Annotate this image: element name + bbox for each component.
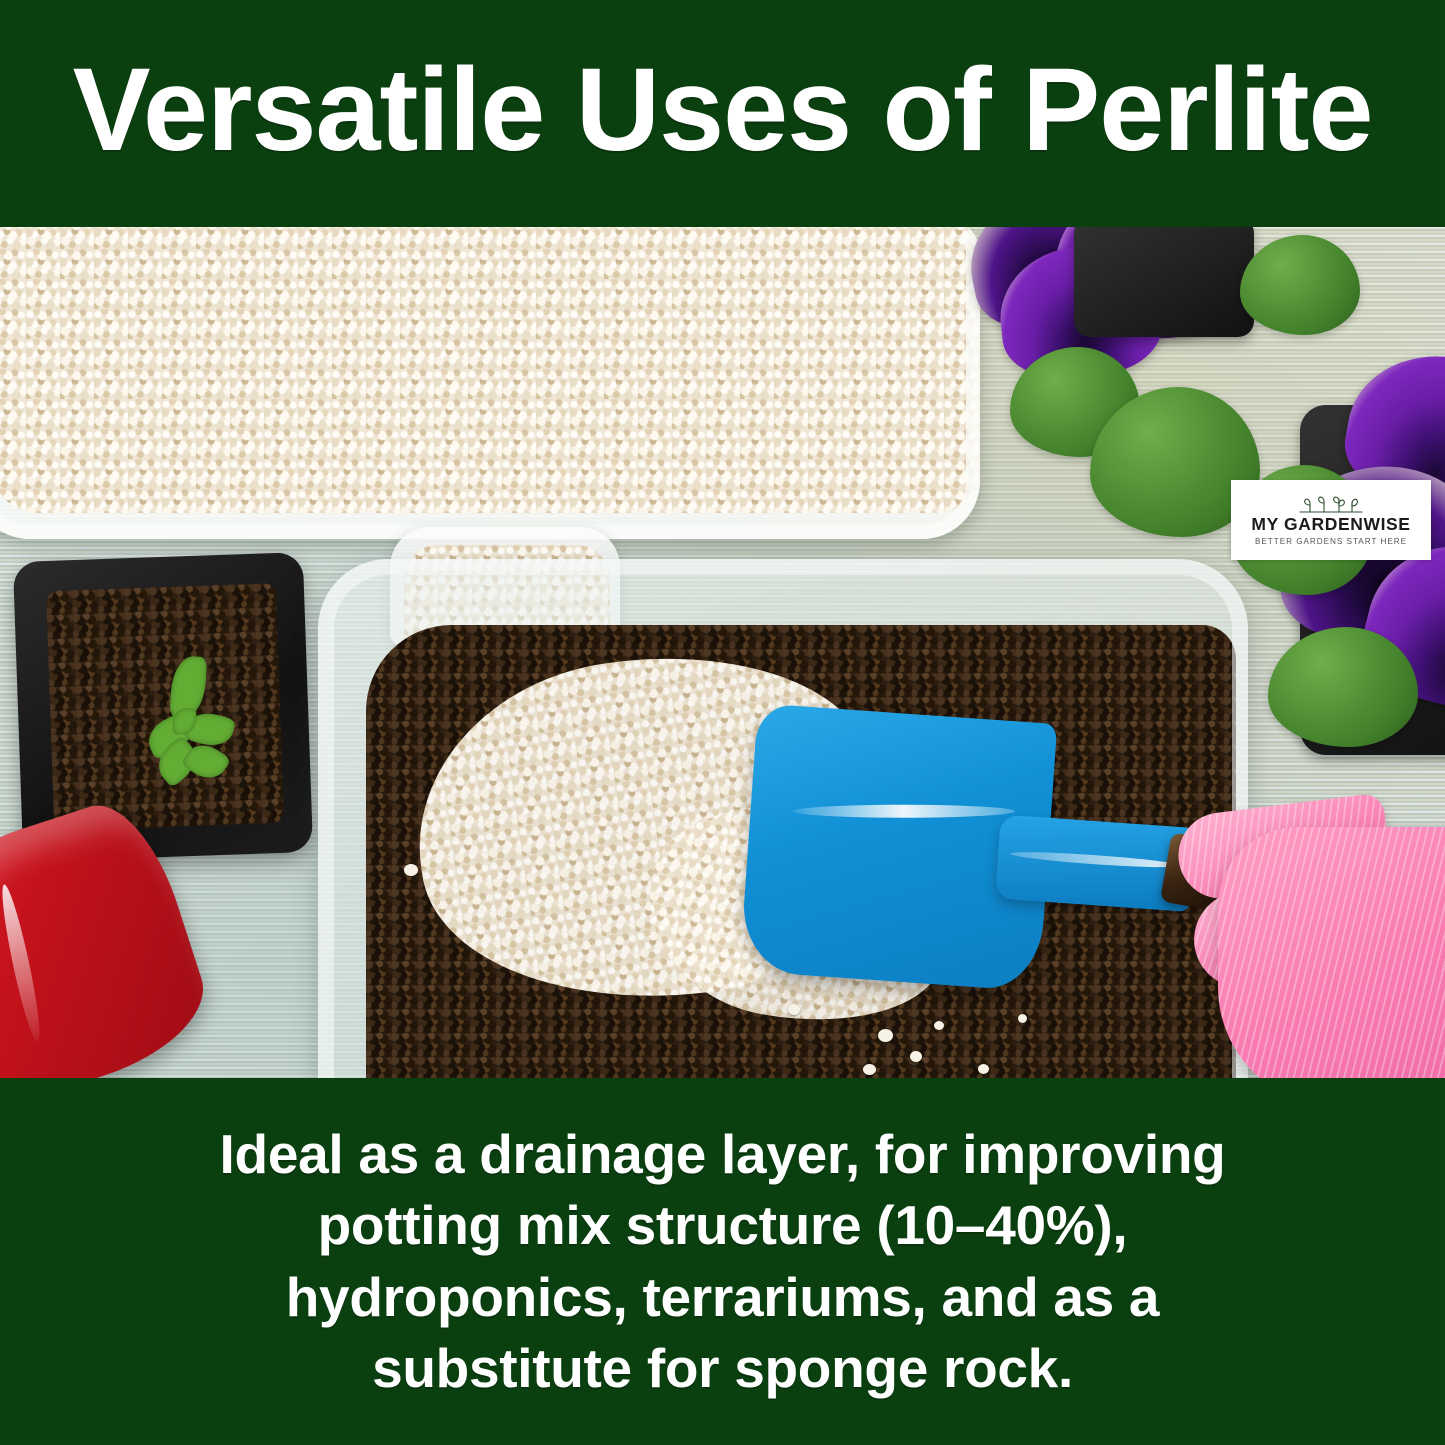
title-banner: Versatile Uses of Perlite xyxy=(0,0,1445,227)
brand-logo[interactable]: MY GARDENWISE BETTER GARDENS START HERE xyxy=(1231,480,1431,560)
pink-glove xyxy=(1178,787,1445,1078)
seedling-plant xyxy=(136,654,250,788)
seedling-tray xyxy=(13,552,313,862)
seedling-sprouts-icon xyxy=(1294,494,1368,514)
caption-line-2: potting mix structure (10–40%), xyxy=(318,1194,1128,1256)
caption-line-3: hydroponics, terrariums, and as a xyxy=(286,1266,1159,1328)
perlite-infographic: Versatile Uses of Perlite xyxy=(0,0,1445,1445)
photo-panel: MY GARDENWISE BETTER GARDENS START HERE xyxy=(0,227,1445,1078)
caption-line-1: Ideal as a drainage layer, for improving xyxy=(220,1123,1226,1185)
glove-palm xyxy=(1218,827,1445,1078)
perlite-tray xyxy=(0,227,980,539)
perlite-granules xyxy=(0,227,980,513)
pansy-pot-top xyxy=(1074,227,1254,337)
caption-text: Ideal as a drainage layer, for improving… xyxy=(220,1119,1226,1405)
caption-line-4: substitute for sponge rock. xyxy=(372,1337,1073,1399)
logo-name: MY GARDENWISE xyxy=(1251,516,1410,534)
logo-tagline: BETTER GARDENS START HERE xyxy=(1255,538,1407,546)
caption-banner: Ideal as a drainage layer, for improving… xyxy=(0,1078,1445,1445)
blue-trowel xyxy=(738,689,1218,1020)
page-title: Versatile Uses of Perlite xyxy=(73,51,1373,177)
